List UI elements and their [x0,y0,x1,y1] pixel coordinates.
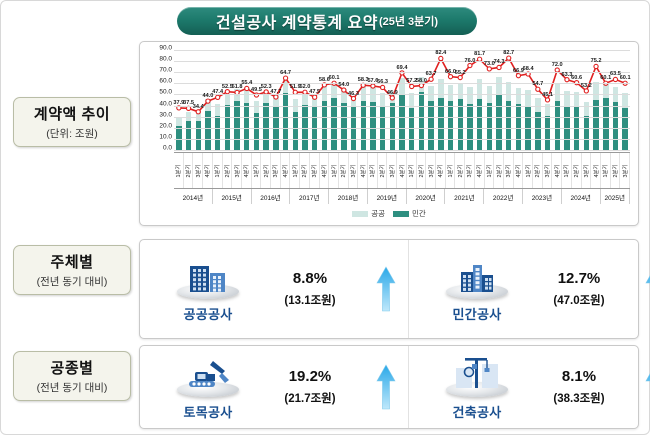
metric-icon-pedestal [438,255,516,305]
line-data-point [468,63,472,67]
x-axis-quarter-tick: 1분기 [252,153,262,188]
x-axis-quarter-tick: 1분기 [290,153,300,188]
x-axis-quarter-label: 1분기 [524,164,532,177]
x-axis-year-label: 2024년 [562,189,601,204]
page-title-period: (25년 3분기) [379,13,438,29]
x-axis-quarter-label: 4분기 [281,164,289,177]
x-axis-quarter-label: 3분기 [504,164,512,177]
x-axis-quarter-label: 4분기 [553,164,561,177]
x-axis-quarter-label: 4분기 [320,164,328,177]
x-axis-quarter-label: 3분기 [543,164,551,177]
x-axis-quarter-label: 4분기 [203,164,211,177]
section-label-subtitle: (전년 동기 대비) [37,380,108,395]
x-axis-quarter-tick: 2분기 [494,153,504,188]
chart-gridline [174,106,630,107]
x-axis-year-label: 2020년 [407,189,446,204]
line-data-label: 56.3 [377,79,388,85]
line-data-point [216,95,220,99]
x-axis-quarter-tick: 1분기 [174,153,184,188]
line-data-label: 63.7 [426,71,437,77]
x-axis-quarter-tick: 2분기 [261,153,271,188]
x-axis-quarter-tick: 1분기 [523,153,533,188]
x-axis-quarter-tick: 2분기 [378,153,388,188]
x-axis-quarter-label: 4분기 [475,164,483,177]
metric-caption: 공공공사 [183,304,232,323]
chart-gridline [174,139,630,140]
metric-icon-column: 토목공사 [162,353,254,421]
x-axis-quarter-tick: 4분기 [436,153,446,188]
line-data-point [264,90,268,94]
x-axis-quarter-label: 3분기 [388,164,396,177]
x-axis-quarter-label: 2분기 [378,164,386,177]
chart-gridline [174,94,630,95]
x-axis-quarter-tick: 1분기 [329,153,339,188]
metric-icon-pedestal [438,353,516,403]
legend-item: 민간 [393,208,426,219]
x-axis-quarter-tick: 3분기 [387,153,397,188]
line-data-point [410,84,414,88]
x-axis-quarter-label: 1분기 [330,164,338,177]
x-axis-quarter-label: 1분기 [252,164,260,177]
section-label-title: 계약액 추이 [34,103,110,124]
line-data-point [225,90,229,94]
x-axis-quarter-label: 2분기 [611,164,619,177]
line-data-label: 60.1 [620,75,631,81]
line-data-label: 55.4 [241,80,252,86]
chart-gridline [174,128,630,129]
x-axis-quarter-label: 1분기 [291,164,299,177]
y-axis-tick-label: 10.0 [159,133,172,140]
line-data-label: 53.2 [581,83,592,89]
line-data-label: 47.4 [212,89,223,95]
x-axis-quarter-tick: 2분기 [611,153,621,188]
metric-caption: 민간공사 [452,304,501,323]
page-title-banner: 건설공사 계약통계 요약 (25년 3분기) [177,7,477,35]
x-axis-quarter-label: 2분기 [533,164,541,177]
line-data-point [196,110,200,114]
line-data-label: 60.6 [571,75,582,81]
chart-gridline [174,150,630,151]
y-axis-tick-label: 90.0 [159,45,172,52]
x-axis-quarter-label: 3분기 [621,164,629,177]
section-label-contract-trend: 계약액 추이 (단위: 조원) [13,97,131,147]
x-axis-quarter-tick: 4분기 [591,153,601,188]
x-axis-quarter-tick: 1분기 [485,153,495,188]
chart-x-axis-years: 2014년2015년2016년2017년2018년2019년2020년2021년… [174,188,630,204]
metric-row: 토목공사 19.2% (21.7조원) [140,346,638,428]
x-axis-quarter-label: 4분기 [359,164,367,177]
x-axis-quarter-tick: 1분기 [601,153,611,188]
metric-icon-column: 공공공사 [162,255,254,323]
section-label-title: 주체별 [51,251,94,272]
metric-cell: 민간공사 12.7% (47.0조원) [408,240,650,338]
by-entity-panel: 공공공사 8.8% (13.1조원) 민간공사 [139,239,639,339]
line-data-label: 76.0 [464,58,475,64]
metric-cell: 공공공사 8.8% (13.1조원) [140,240,408,338]
x-axis-quarter-tick: 4분기 [242,153,252,188]
metric-value-column: 8.1% (38.3조원) [525,368,633,406]
x-axis-quarter-tick: 4분기 [475,153,485,188]
line-data-label: 46.3 [348,91,359,97]
x-axis-quarter-tick: 2분기 [184,153,194,188]
line-data-point [458,75,462,79]
legend-label: 공공 [371,208,385,219]
x-axis-quarter-tick: 1분기 [407,153,417,188]
chart-legend: 공공민간 [140,208,638,219]
x-axis-quarter-tick: 1분기 [213,153,223,188]
line-data-label: 68.4 [523,66,534,72]
x-axis-year-label: 2023년 [523,189,562,204]
chart-gridline [174,117,630,118]
x-axis-quarter-label: 2분기 [300,164,308,177]
x-axis-quarter-tick: 3분기 [620,153,630,188]
x-axis-quarter-tick: 4분기 [514,153,524,188]
by-work-type-panel: 토목공사 19.2% (21.7조원) [139,345,639,429]
metric-icon-column: 민간공사 [431,255,523,323]
x-axis-quarter-label: 3분기 [427,164,435,177]
page-title: 건설공사 계약통계 요약 [216,9,378,33]
line-data-point [186,106,190,110]
x-axis-quarter-tick: 3분기 [426,153,436,188]
y-axis-tick-label: 80.0 [159,56,172,63]
metric-amount: (21.7조원) [284,390,335,406]
arrow-up-icon [364,265,408,313]
line-data-point [536,87,540,91]
line-data-point [545,98,549,102]
x-axis-quarter-label: 2분기 [495,164,503,177]
x-axis-quarter-tick: 1분기 [562,153,572,188]
line-data-point [487,67,491,71]
x-axis-quarter-label: 3분기 [194,164,202,177]
apartment-building-icon [438,254,516,294]
line-data-label: 47.5 [309,89,320,95]
line-data-point [274,95,278,99]
line-data-point [497,65,501,69]
x-axis-quarter-tick: 2분기 [533,153,543,188]
line-data-label: 82.4 [435,50,446,56]
x-axis-quarter-tick: 4분기 [281,153,291,188]
x-axis-quarter-tick: 4분기 [397,153,407,188]
line-data-point [313,95,317,99]
metric-amount: (47.0조원) [553,292,604,308]
line-data-point [448,75,452,79]
line-data-label: 72.0 [552,62,563,68]
section-label-title: 공종별 [51,357,94,378]
metric-amount: (13.1조원) [284,292,335,308]
x-axis-quarter-label: 4분기 [592,164,600,177]
arrow-up-icon [364,363,408,411]
x-axis-year-label: 2022년 [484,189,523,204]
x-axis-quarter-label: 4분기 [398,164,406,177]
metric-percent: 19.2% [289,368,332,385]
x-axis-quarter-tick: 3분기 [582,153,592,188]
x-axis-quarter-tick: 4분기 [552,153,562,188]
line-data-label: 47.7 [270,89,281,95]
x-axis-quarter-label: 3분기 [582,164,590,177]
metric-percent: 12.7% [558,270,601,287]
line-data-point [390,96,394,100]
x-axis-quarter-label: 1분기 [174,164,182,177]
line-data-point [584,89,588,93]
x-axis-year-label: 2014년 [174,189,213,204]
line-data-point [381,85,385,89]
x-axis-quarter-tick: 4분기 [358,153,368,188]
metric-percent: 8.8% [293,270,327,287]
metric-caption: 건축공사 [452,402,501,421]
chart-y-axis: 90.080.070.060.050.040.030.020.010.00.0 [140,45,174,155]
line-data-point [245,86,249,90]
y-axis-tick-label: 20.0 [159,122,172,129]
x-axis-quarter-label: 4분기 [436,164,444,177]
y-axis-tick-label: 50.0 [159,89,172,96]
x-axis-year-label: 2015년 [213,189,252,204]
x-axis-year-label: 2016년 [252,189,291,204]
metric-cell: 건축공사 8.1% (38.3조원) [408,346,650,428]
line-data-label: 82.7 [503,50,514,56]
x-axis-year-label: 2018년 [329,189,368,204]
x-axis-quarter-tick: 3분기 [504,153,514,188]
x-axis-year-label: 2021년 [445,189,484,204]
y-axis-tick-label: 60.0 [159,78,172,85]
line-data-label: 34.4 [193,104,204,110]
line-data-point [507,56,511,60]
metric-value-column: 8.8% (13.1조원) [256,270,364,308]
x-axis-quarter-tick: 4분기 [203,153,213,188]
section-label-by-work-type: 공종별 (전년 동기 대비) [13,351,131,401]
x-axis-quarter-tick: 1분기 [368,153,378,188]
metric-icon-column: 건축공사 [431,353,523,421]
line-data-label: 74.3 [494,59,505,65]
x-axis-quarter-tick: 2분기 [455,153,465,188]
x-axis-quarter-label: 1분기 [368,164,376,177]
x-axis-quarter-label: 3분기 [465,164,473,177]
x-axis-quarter-label: 4분기 [242,164,250,177]
x-axis-quarter-tick: 4분기 [320,153,330,188]
metric-caption: 토목공사 [183,402,232,421]
y-axis-tick-label: 70.0 [159,67,172,74]
x-axis-quarter-tick: 3분기 [271,153,281,188]
section-label-by-entity: 주체별 (전년 동기 대비) [13,245,131,295]
metric-value-column: 19.2% (21.7조원) [256,368,364,406]
line-data-label: 65.2 [455,70,466,76]
legend-swatch [393,211,409,217]
x-axis-quarter-label: 2분기 [456,164,464,177]
arrow-up-icon [633,265,650,313]
x-axis-quarter-label: 2분기 [262,164,270,177]
line-data-point [206,99,210,103]
x-axis-quarter-tick: 3분기 [349,153,359,188]
chart-area: 90.080.070.060.050.040.030.020.010.00.0 … [140,42,638,225]
line-data-point [429,77,433,81]
line-data-label: 60.1 [329,75,340,81]
chart-plot-area: 37.937.534.444.047.452.551.855.449.552.3… [174,50,630,150]
line-data-label: 64.7 [280,70,291,76]
x-axis-quarter-label: 2분기 [184,164,192,177]
legend-label: 민간 [412,208,426,219]
x-axis-quarter-label: 3분기 [310,164,318,177]
legend-item: 공공 [352,208,385,219]
x-axis-quarter-label: 3분기 [233,164,241,177]
x-axis-quarter-tick: 1분기 [446,153,456,188]
line-data-point [371,84,375,88]
legend-swatch [352,211,368,217]
x-axis-quarter-tick: 3분기 [465,153,475,188]
line-data-label: 54.0 [338,82,349,88]
chart-gridline [174,50,630,51]
x-axis-quarter-label: 1분기 [485,164,493,177]
line-data-label: 75.2 [591,58,602,64]
contract-trend-chart-panel: 90.080.070.060.050.040.030.020.010.00.0 … [139,41,639,226]
metric-amount: (38.3조원) [553,390,604,406]
x-axis-quarter-label: 4분기 [514,164,522,177]
x-axis-quarter-label: 3분기 [271,164,279,177]
x-axis-year-label: 2017년 [290,189,329,204]
x-axis-quarter-tick: 3분기 [543,153,553,188]
x-axis-quarter-tick: 2분기 [223,153,233,188]
x-axis-year-label: 2019년 [368,189,407,204]
line-data-point [594,64,598,68]
line-data-label: 81.7 [474,51,485,57]
summary-infographic-page: 건설공사 계약통계 요약 (25년 3분기) 계약액 추이 (단위: 조원) 주… [0,0,650,435]
x-axis-quarter-label: 1분기 [562,164,570,177]
metric-row: 공공공사 8.8% (13.1조원) 민간공사 [140,240,638,338]
line-data-label: 45.1 [542,92,553,98]
x-axis-quarter-tick: 3분기 [232,153,242,188]
x-axis-quarter-label: 1분기 [446,164,454,177]
y-axis-tick-label: 30.0 [159,111,172,118]
x-axis-quarter-label: 1분기 [601,164,609,177]
metric-icon-pedestal [169,353,247,403]
x-axis-quarter-tick: 2분기 [417,153,427,188]
x-axis-quarter-label: 1분기 [213,164,221,177]
x-axis-quarter-tick: 3분기 [193,153,203,188]
arrow-up-icon [633,363,650,411]
office-buildings-icon [169,254,247,294]
x-axis-quarter-label: 3분기 [349,164,357,177]
metric-value-column: 12.7% (47.0조원) [525,270,633,308]
metric-percent: 8.1% [562,368,596,385]
x-axis-quarter-label: 2분기 [417,164,425,177]
x-axis-quarter-tick: 2분기 [300,153,310,188]
line-data-point [351,96,355,100]
metric-cell: 토목공사 19.2% (21.7조원) [140,346,408,428]
x-axis-year-label: 2025년 [601,189,630,204]
x-axis-quarter-tick: 3분기 [310,153,320,188]
line-data-point [613,77,617,81]
section-label-subtitle: (단위: 조원) [46,126,97,141]
line-data-point [565,78,569,82]
x-axis-quarter-label: 2분기 [572,164,580,177]
line-data-label: 58.0 [416,78,427,84]
y-axis-tick-label: 0.0 [163,145,172,152]
line-data-label: 54.7 [532,81,543,87]
metric-icon-pedestal [169,255,247,305]
line-data-point [439,56,443,60]
line-data-point [516,74,520,78]
section-label-subtitle: (전년 동기 대비) [37,274,108,289]
x-axis-quarter-label: 1분기 [407,164,415,177]
crane-construction-icon [438,352,516,392]
x-axis-quarter-tick: 2분기 [572,153,582,188]
line-data-label: 46.9 [387,90,398,96]
line-data-label: 69.4 [397,65,408,71]
x-axis-quarter-label: 2분기 [223,164,231,177]
x-axis-quarter-label: 2분기 [339,164,347,177]
line-data-point [342,88,346,92]
x-axis-quarter-tick: 2분기 [339,153,349,188]
y-axis-tick-label: 40.0 [159,100,172,107]
chart-x-axis-quarters: 1분기2분기3분기4분기1분기2분기3분기4분기1분기2분기3분기4분기1분기2… [174,152,630,188]
line-data-point [283,76,287,80]
excavator-icon [169,352,247,392]
